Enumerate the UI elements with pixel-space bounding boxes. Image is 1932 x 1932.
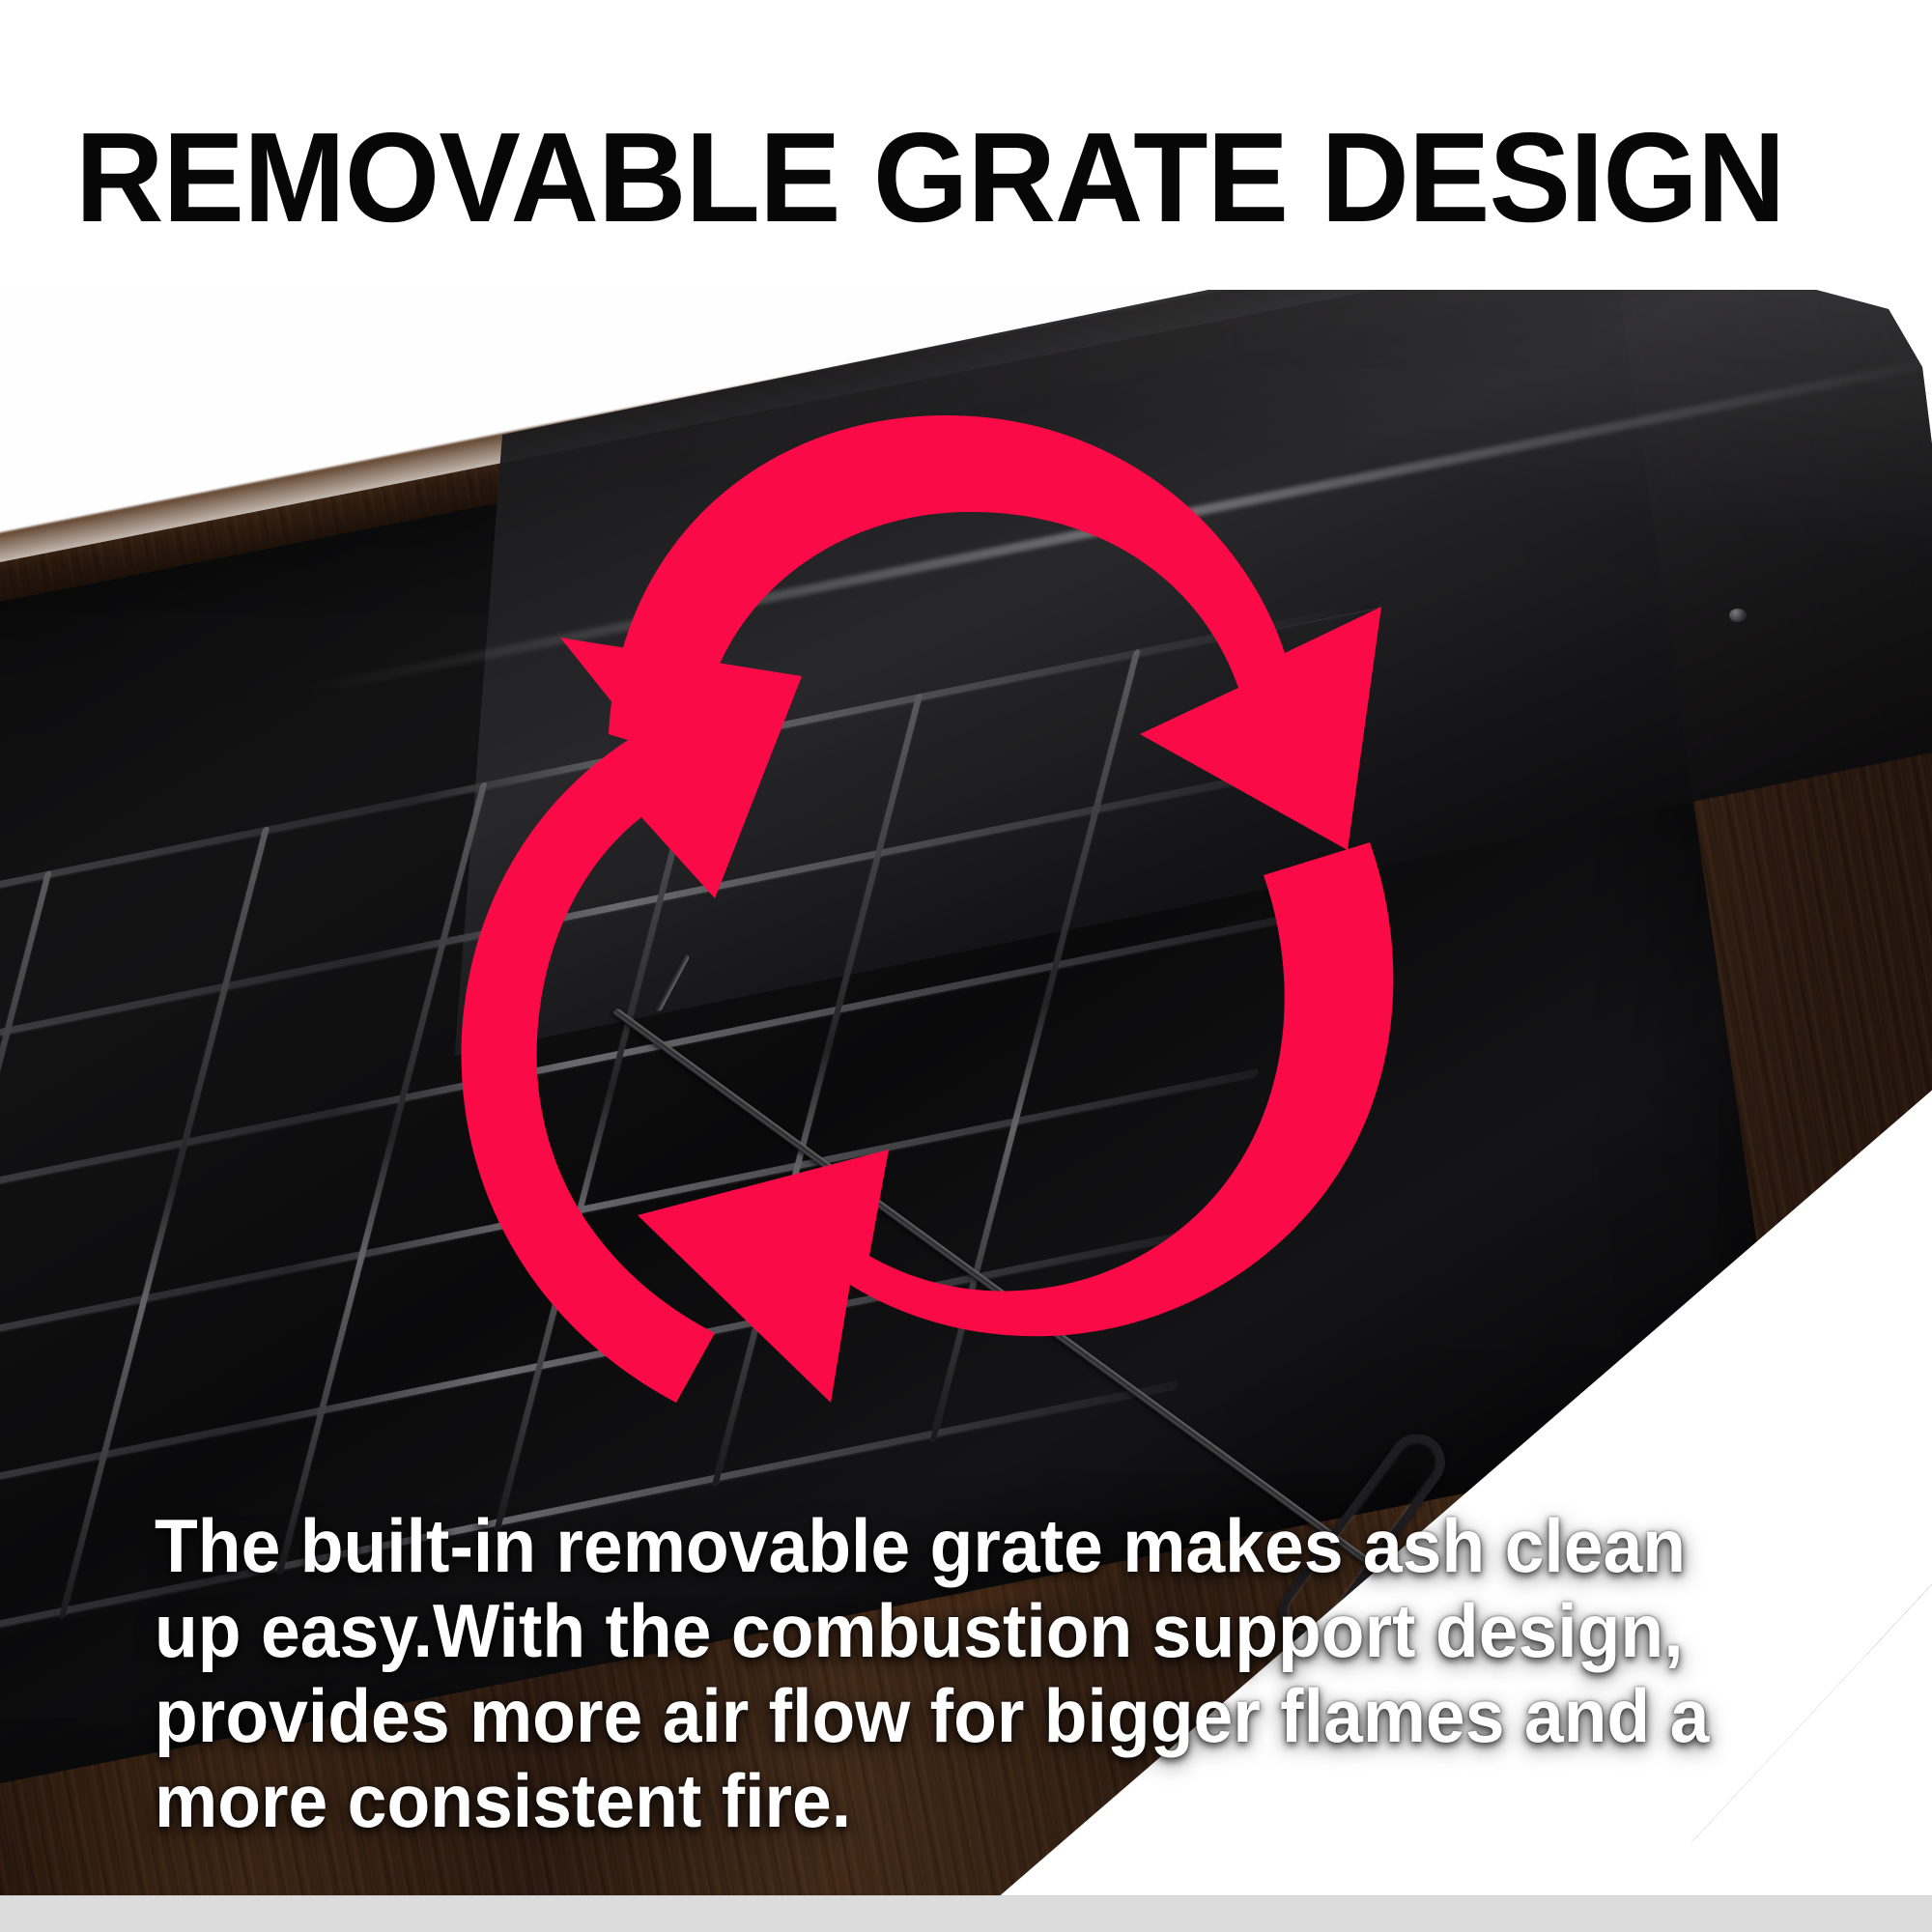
- grate-cross-bar: [59, 826, 270, 1618]
- grate-cross-bar: [276, 781, 488, 1574]
- grate-cross-bar: [495, 737, 706, 1529]
- bottom-divider-strip: [0, 1895, 1932, 1932]
- feature-description-line: provides more air flow for bigger flames…: [155, 1673, 1717, 1758]
- feature-description-line: The built-in removable grate makes ash c…: [155, 1503, 1717, 1588]
- feature-description: The built-in removable grate makes ash c…: [155, 1503, 1717, 1843]
- grate-cross-bar: [0, 870, 52, 1662]
- feature-description-line: up easy.With the combustion support desi…: [155, 1588, 1717, 1673]
- feature-description-line: more consistent fire.: [155, 1758, 1717, 1843]
- rivet-icon: [1729, 609, 1747, 622]
- product-feature-poster: REMOVABLE GRATE DESIGN: [0, 0, 1932, 1932]
- grate-cross-bar: [712, 694, 923, 1486]
- page-title: REMOVABLE GRATE DESIGN: [75, 114, 1801, 241]
